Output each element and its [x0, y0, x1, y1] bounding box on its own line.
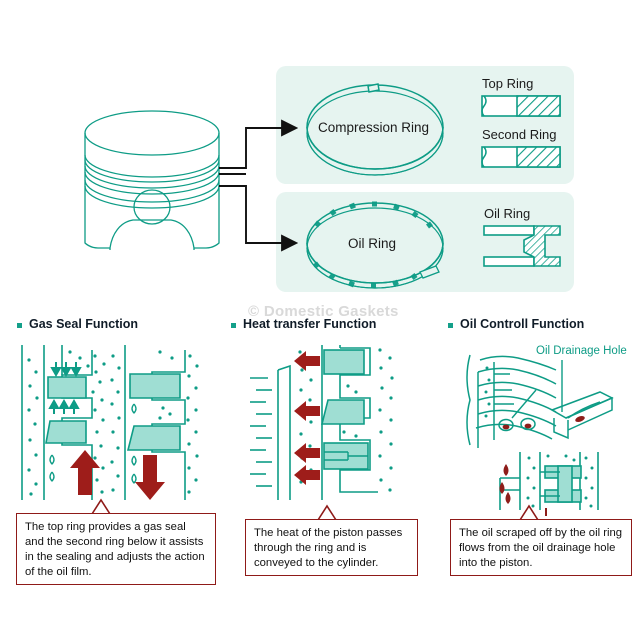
callout-heat-transfer-line-3: conveyed to the cylinder. [254, 556, 410, 571]
callout-gas-seal-line-1: The top ring provides a gas seal [25, 520, 208, 535]
callout-oil-control-line-3: into the piston. [459, 556, 624, 571]
callout-oil-control-line-2: flows from the oil drainage hole [459, 541, 624, 556]
callout-gas-seal-line-3: in the sealing and adjusts the action [25, 550, 208, 565]
callout-heat-transfer: The heat of the piston passes through th… [245, 519, 418, 576]
callout-gas-seal-line-4: of the oil film. [25, 565, 208, 580]
callout-gas-seal-line-2: and the second ring below it assists [25, 535, 208, 550]
callout-heat-transfer-line-1: The heat of the piston passes [254, 526, 410, 541]
callout-heat-transfer-line-2: through the ring and is [254, 541, 410, 556]
diagram-canvas: Compression Ring Top Ring Second Ring Oi… [0, 0, 640, 640]
callout-oil-control: The oil scraped off by the oil ring flow… [450, 519, 632, 576]
callout-oil-control-line-1: The oil scraped off by the oil ring [459, 526, 624, 541]
callout-gas-seal: The top ring provides a gas seal and the… [16, 513, 216, 585]
